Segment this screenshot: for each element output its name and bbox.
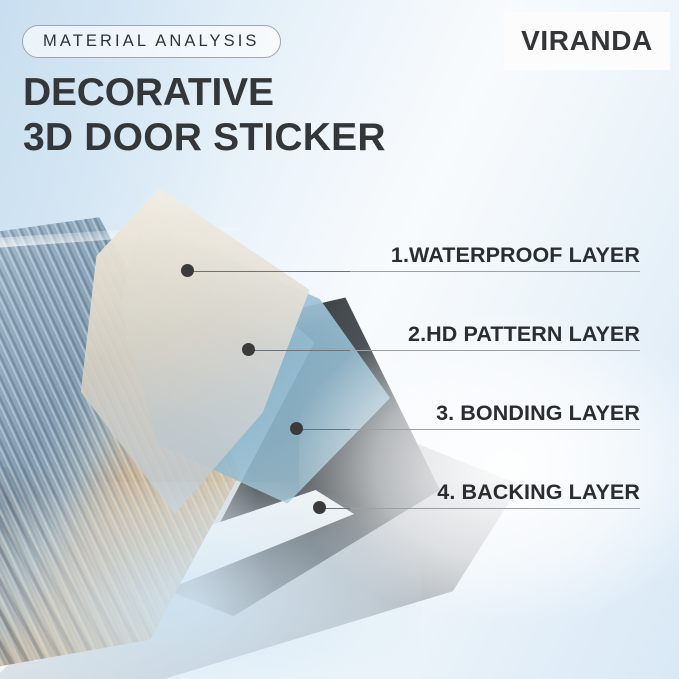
callout-rule-2 xyxy=(350,350,640,351)
callout-3: 3. BONDING LAYER xyxy=(350,401,640,430)
infographic-canvas: 1.WATERPROOF LAYER 2.HD PATTERN LAYER 3.… xyxy=(0,0,679,679)
callout-label-4: 4. BACKING LAYER xyxy=(350,480,640,508)
callout-dot-1 xyxy=(181,264,194,277)
eyebrow-label: MATERIAL ANALYSIS xyxy=(43,32,260,51)
callout-label-2: 2.HD PATTERN LAYER xyxy=(350,322,640,350)
page-title-line-2: 3D DOOR STICKER xyxy=(23,115,386,160)
callout-rule-4 xyxy=(350,508,640,509)
callout-rule-3 xyxy=(350,429,640,430)
callout-label-3: 3. BONDING LAYER xyxy=(350,401,640,429)
callout-1: 1.WATERPROOF LAYER xyxy=(350,243,640,272)
callout-2: 2.HD PATTERN LAYER xyxy=(350,322,640,351)
callout-dot-4 xyxy=(313,501,326,514)
page-title: DECORATIVE 3D DOOR STICKER xyxy=(23,70,386,160)
brand-name: VIRANDA xyxy=(521,25,653,57)
callout-rule-1 xyxy=(350,271,640,272)
callout-dot-2 xyxy=(242,343,255,356)
eyebrow-badge: MATERIAL ANALYSIS xyxy=(22,25,281,58)
brand-logo: VIRANDA xyxy=(504,12,670,70)
callout-4: 4. BACKING LAYER xyxy=(350,480,640,509)
callout-dot-3 xyxy=(290,422,303,435)
callout-label-1: 1.WATERPROOF LAYER xyxy=(350,243,640,271)
page-title-line-1: DECORATIVE xyxy=(23,71,274,114)
